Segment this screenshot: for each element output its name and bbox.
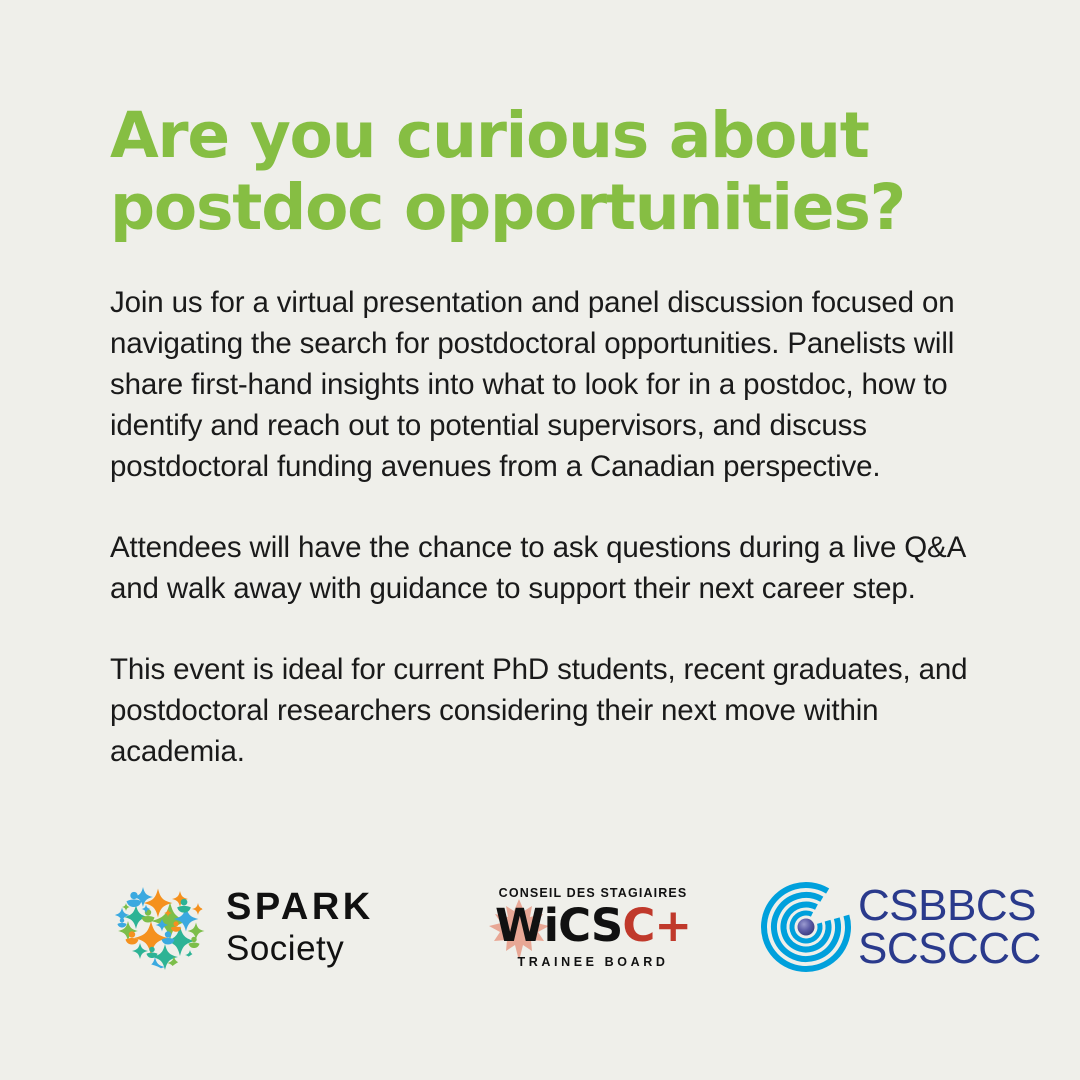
wicsc-word-cs: CS [558, 899, 622, 952]
csbbcs-wordmark-line-2: SCSCCC [858, 927, 1041, 970]
body-paragraph-2: Attendees will have the chance to ask qu… [110, 527, 990, 609]
wicsc-wordmark: WiCSC+ [495, 901, 691, 951]
spark-wordmark: SPARK Society [226, 888, 374, 966]
spark-wordmark-line-1: SPARK [226, 888, 374, 926]
brain-sparkles-icon [110, 879, 210, 975]
logo-spark-society: SPARK Society [110, 872, 374, 982]
poster-canvas: Are you curious about postdoc opportunit… [0, 0, 1080, 1080]
body-paragraph-3: This event is ideal for current PhD stud… [110, 649, 990, 772]
concentric-rings-icon [760, 881, 852, 973]
spark-wordmark-line-2: Society [226, 931, 374, 966]
headline-line-1: Are you curious about [110, 100, 970, 172]
wicsc-wordmark-text: WiCSC+ [495, 903, 691, 948]
logo-wicsc-trainee-board: CONSEIL DES STAGIAIRES WiCSC+ TRAINEE BO… [495, 872, 691, 982]
headline-line-2: postdoc opportunities? [110, 172, 970, 244]
wicsc-word-wi: Wi [495, 899, 558, 952]
csbbcs-wordmark: CSBBCS SCSCCC [858, 884, 1041, 970]
wicsc-word-cplus: C+ [622, 899, 691, 952]
body-copy: Join us for a virtual presentation and p… [110, 282, 990, 772]
body-paragraph-1: Join us for a virtual presentation and p… [110, 282, 990, 487]
logo-strip: SPARK Society CONSEIL DES STAGIAIRES WiC… [110, 872, 990, 982]
logo-csbbcs-scsccc: CSBBCS SCSCCC [760, 872, 1041, 982]
csbbcs-wordmark-line-1: CSBBCS [858, 884, 1041, 927]
page-title: Are you curious about postdoc opportunit… [110, 100, 970, 244]
